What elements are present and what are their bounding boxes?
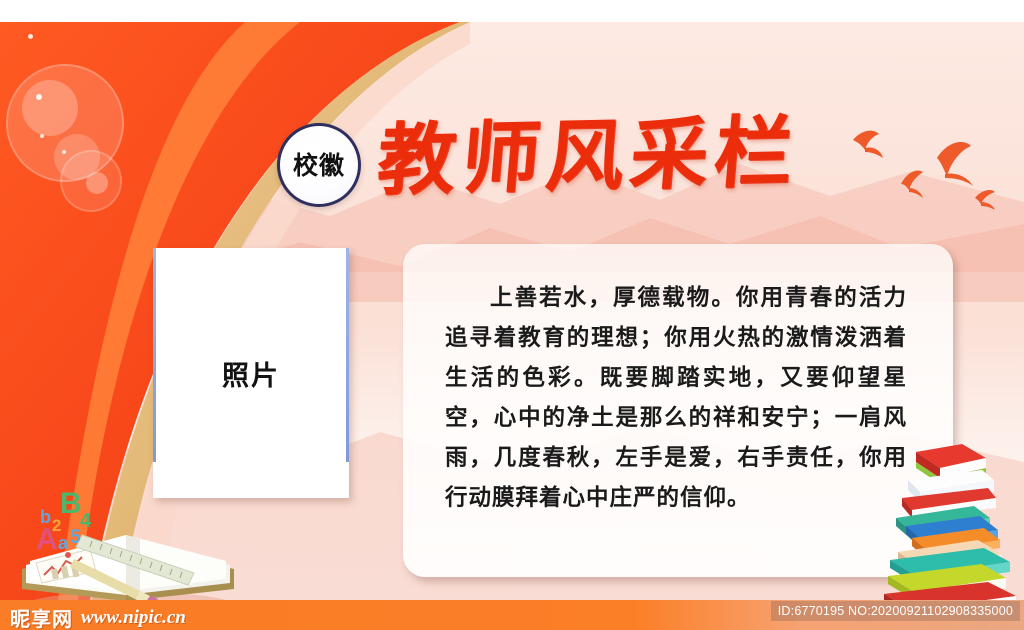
watermark-brand: 昵享网 www.nipic.cn — [10, 603, 186, 630]
photo-placeholder-label: 照片 — [222, 354, 280, 393]
poster-title-text: 教师风采栏 — [374, 114, 801, 201]
school-emblem-badge[interactable]: 校徽 — [277, 123, 361, 207]
flying-birds-icon — [845, 122, 1015, 222]
content-card: 上善若水，厚德载物。你用青春的活力追寻着教育的理想；你用火热的激情泼洒着生活的色… — [403, 244, 953, 577]
school-emblem-label: 校徽 — [293, 153, 345, 178]
svg-text:B: B — [60, 487, 82, 520]
photo-placeholder[interactable]: 照片 — [153, 248, 349, 498]
svg-text:2: 2 — [52, 516, 61, 535]
watermark-url-text: www.nipic.cn — [81, 607, 186, 629]
content-paragraph: 上善若水，厚德载物。你用青春的活力追寻着教育的理想；你用火热的激情泼洒着生活的色… — [445, 278, 907, 518]
watermark-logo-text: 昵享网 — [10, 603, 73, 630]
watermark-id-text: ID:6770195 NO:20200921102908335000 — [771, 601, 1020, 621]
poster-title: 教师风采栏 — [378, 102, 858, 212]
svg-text:5: 5 — [70, 527, 81, 548]
stacked-books-illustration — [878, 434, 1024, 600]
poster-board: 校徽 教师风采栏 照片 — [0, 22, 1024, 600]
svg-text:a: a — [58, 533, 69, 553]
svg-text:4: 4 — [80, 510, 92, 532]
open-book-illustration: B b A a 2 4 5 — [8, 477, 248, 600]
poster-canvas: 校徽 教师风采栏 照片 — [0, 0, 1024, 630]
